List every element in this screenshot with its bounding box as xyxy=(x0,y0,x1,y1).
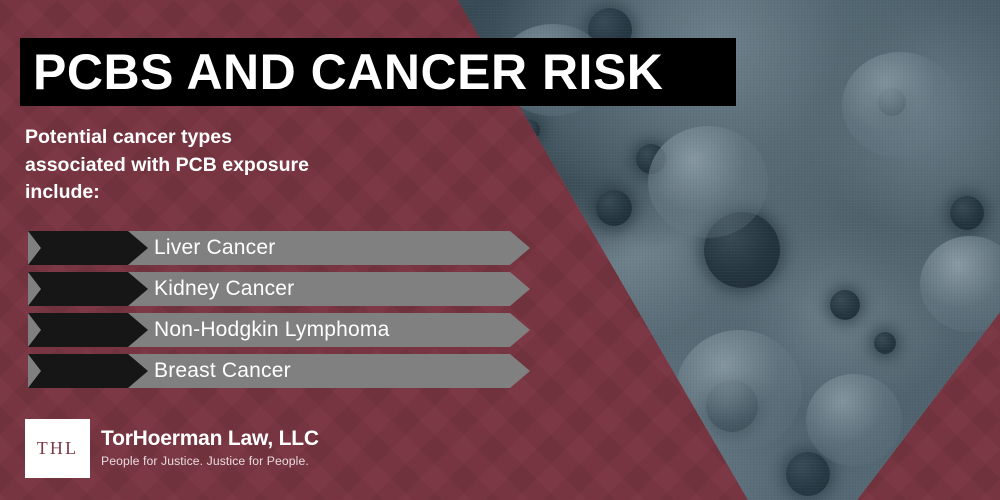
logo-wordmark: TorHoerman Law, LLC People for Justice. … xyxy=(90,419,319,478)
chevron-arrow-icon xyxy=(28,354,148,388)
intro-paragraph: Potential cancer types associated with P… xyxy=(25,124,325,207)
thl-monogram: THL xyxy=(37,438,79,459)
chevron-arrow-icon xyxy=(28,231,148,265)
list-item: Kidney Cancer xyxy=(28,272,530,306)
list-item: Non-Hodgkin Lymphoma xyxy=(28,313,530,347)
list-item-label: Kidney Cancer xyxy=(154,272,294,306)
list-item-label: Non-Hodgkin Lymphoma xyxy=(154,313,390,347)
chevron-arrow-icon xyxy=(28,272,148,306)
firm-tagline: People for Justice. Justice for People. xyxy=(101,453,319,470)
chevron-arrow-icon xyxy=(28,313,148,347)
law-firm-logo: THL TorHoerman Law, LLC People for Justi… xyxy=(25,419,319,478)
title-banner: PCBS AND CANCER RISK xyxy=(20,38,736,106)
firm-name: TorHoerman Law, LLC xyxy=(101,427,319,451)
pcb-cancer-risk-infographic: PCBS AND CANCER RISK Potential cancer ty… xyxy=(0,0,1000,500)
cancer-types-list: Liver Cancer Kidney Cancer Non-Hodgkin L… xyxy=(28,231,530,395)
list-item-label: Breast Cancer xyxy=(154,354,291,388)
list-item: Liver Cancer xyxy=(28,231,530,265)
cell-nucleus-blob xyxy=(620,446,646,472)
page-title: PCBS AND CANCER RISK xyxy=(20,47,663,97)
thl-logo-mark: THL xyxy=(25,419,90,478)
list-item: Breast Cancer xyxy=(28,354,530,388)
list-item-label: Liver Cancer xyxy=(154,231,275,265)
